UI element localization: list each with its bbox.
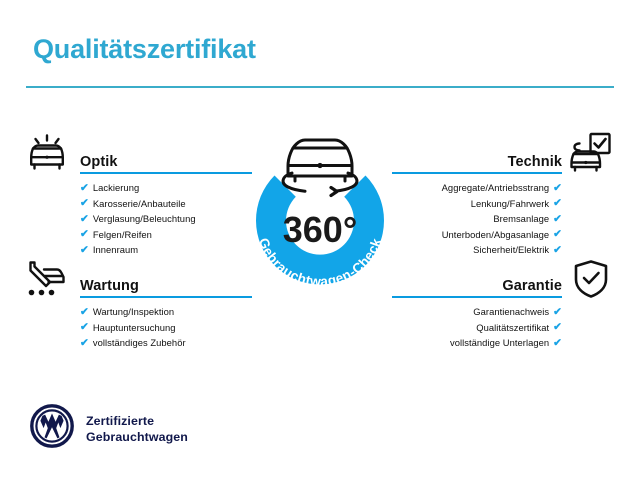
list-item-label: Aggregate/Antriebsstrang	[442, 180, 550, 196]
list-item: Qualitätszertifikat ✔	[392, 320, 562, 336]
list-item-label: vollständiges Zubehör	[93, 335, 186, 351]
check-icon: ✔	[553, 307, 562, 318]
certificate-page: Qualitätszertifikat Optik ✔ Lackierung	[0, 0, 640, 480]
check-icon: ✔	[553, 322, 562, 333]
check-icon: ✔	[80, 229, 89, 240]
car-checkbox-icon	[568, 132, 612, 179]
volkswagen-logo	[30, 404, 74, 453]
check-icon: ✔	[80, 307, 89, 318]
check-icon: ✔	[553, 338, 562, 349]
section-technik-title: Technik	[508, 154, 562, 170]
section-optik-title: Optik	[80, 154, 118, 170]
list-item-label: Hauptuntersuchung	[93, 320, 176, 336]
section-garantie-list: Garantienachweis ✔ Qualitätszertifikat ✔…	[392, 304, 562, 351]
list-item-label: Sicherheit/Elektrik	[473, 242, 549, 258]
list-item: ✔ vollständiges Zubehör	[80, 335, 260, 351]
car-front-shine-icon	[26, 133, 68, 178]
list-item-label: Bremsanlage	[493, 211, 549, 227]
section-technik-list: Aggregate/Antriebsstrang ✔ Lenkung/Fahrw…	[392, 180, 562, 258]
section-optik-divider	[80, 172, 252, 174]
list-item-label: Lackierung	[93, 180, 139, 196]
list-item-label: Felgen/Reifen	[93, 227, 152, 243]
check-icon: ✔	[553, 214, 562, 225]
badge-center-text: 360°	[283, 209, 357, 250]
check-icon: ✔	[553, 198, 562, 209]
check-icon: ✔	[80, 198, 89, 209]
list-item-label: Unterboden/Abgasanlage	[442, 227, 549, 243]
list-item-label: Garantienachweis	[473, 304, 549, 320]
car-front-rotate-icon	[283, 140, 357, 196]
check-icon: ✔	[80, 322, 89, 333]
check-icon: ✔	[553, 245, 562, 256]
section-wartung-divider	[80, 296, 252, 298]
list-item-label: Innenraum	[93, 242, 138, 258]
section-garantie-header: Garantie	[392, 272, 562, 298]
section-technik: Technik Aggregate/Antriebsstrang ✔ Lenku…	[392, 148, 562, 258]
section-technik-divider	[392, 172, 562, 174]
check-icon: ✔	[80, 183, 89, 194]
check-icon: ✔	[80, 214, 89, 225]
360-check-badge: 360° Gebrauchtwagen-Check	[230, 110, 410, 305]
list-item: Sicherheit/Elektrik ✔	[392, 242, 562, 258]
list-item-label: Wartung/Inspektion	[93, 304, 174, 320]
section-technik-header: Technik	[392, 148, 562, 174]
list-item: Garantienachweis ✔	[392, 304, 562, 320]
title-divider	[26, 86, 614, 88]
section-wartung-list: ✔ Wartung/Inspektion ✔ Hauptuntersuchung…	[80, 304, 260, 351]
section-garantie-divider	[392, 296, 562, 298]
footer-brand: Zertifizierte Gebrauchtwagen	[30, 404, 188, 453]
shield-check-icon	[573, 259, 609, 304]
list-item: ✔ Hauptuntersuchung	[80, 320, 260, 336]
check-icon: ✔	[80, 245, 89, 256]
footer-brand-text: Zertifizierte Gebrauchtwagen	[86, 413, 188, 445]
list-item-label: Lenkung/Fahrwerk	[471, 196, 549, 212]
footer-line-1: Zertifizierte	[86, 413, 188, 429]
list-item: Aggregate/Antriebsstrang ✔	[392, 180, 562, 196]
page-title: Qualitätszertifikat	[33, 34, 256, 65]
wrench-car-icon	[24, 259, 68, 304]
section-garantie-title: Garantie	[502, 278, 562, 294]
list-item: Unterboden/Abgasanlage ✔	[392, 227, 562, 243]
list-item: ✔ Wartung/Inspektion	[80, 304, 260, 320]
section-garantie: Garantie Garantienachweis ✔ Qualitätszer…	[392, 272, 562, 351]
list-item: vollständige Unterlagen ✔	[392, 335, 562, 351]
list-item-label: Karosserie/Anbauteile	[93, 196, 186, 212]
list-item-label: vollständige Unterlagen	[450, 335, 549, 351]
check-icon: ✔	[80, 338, 89, 349]
list-item: Lenkung/Fahrwerk ✔	[392, 196, 562, 212]
footer-line-2: Gebrauchtwagen	[86, 429, 188, 445]
list-item: Bremsanlage ✔	[392, 211, 562, 227]
section-wartung-title: Wartung	[80, 278, 139, 294]
check-icon: ✔	[553, 183, 562, 194]
list-item-label: Qualitätszertifikat	[476, 320, 549, 336]
list-item-label: Verglasung/Beleuchtung	[93, 211, 196, 227]
check-icon: ✔	[553, 229, 562, 240]
